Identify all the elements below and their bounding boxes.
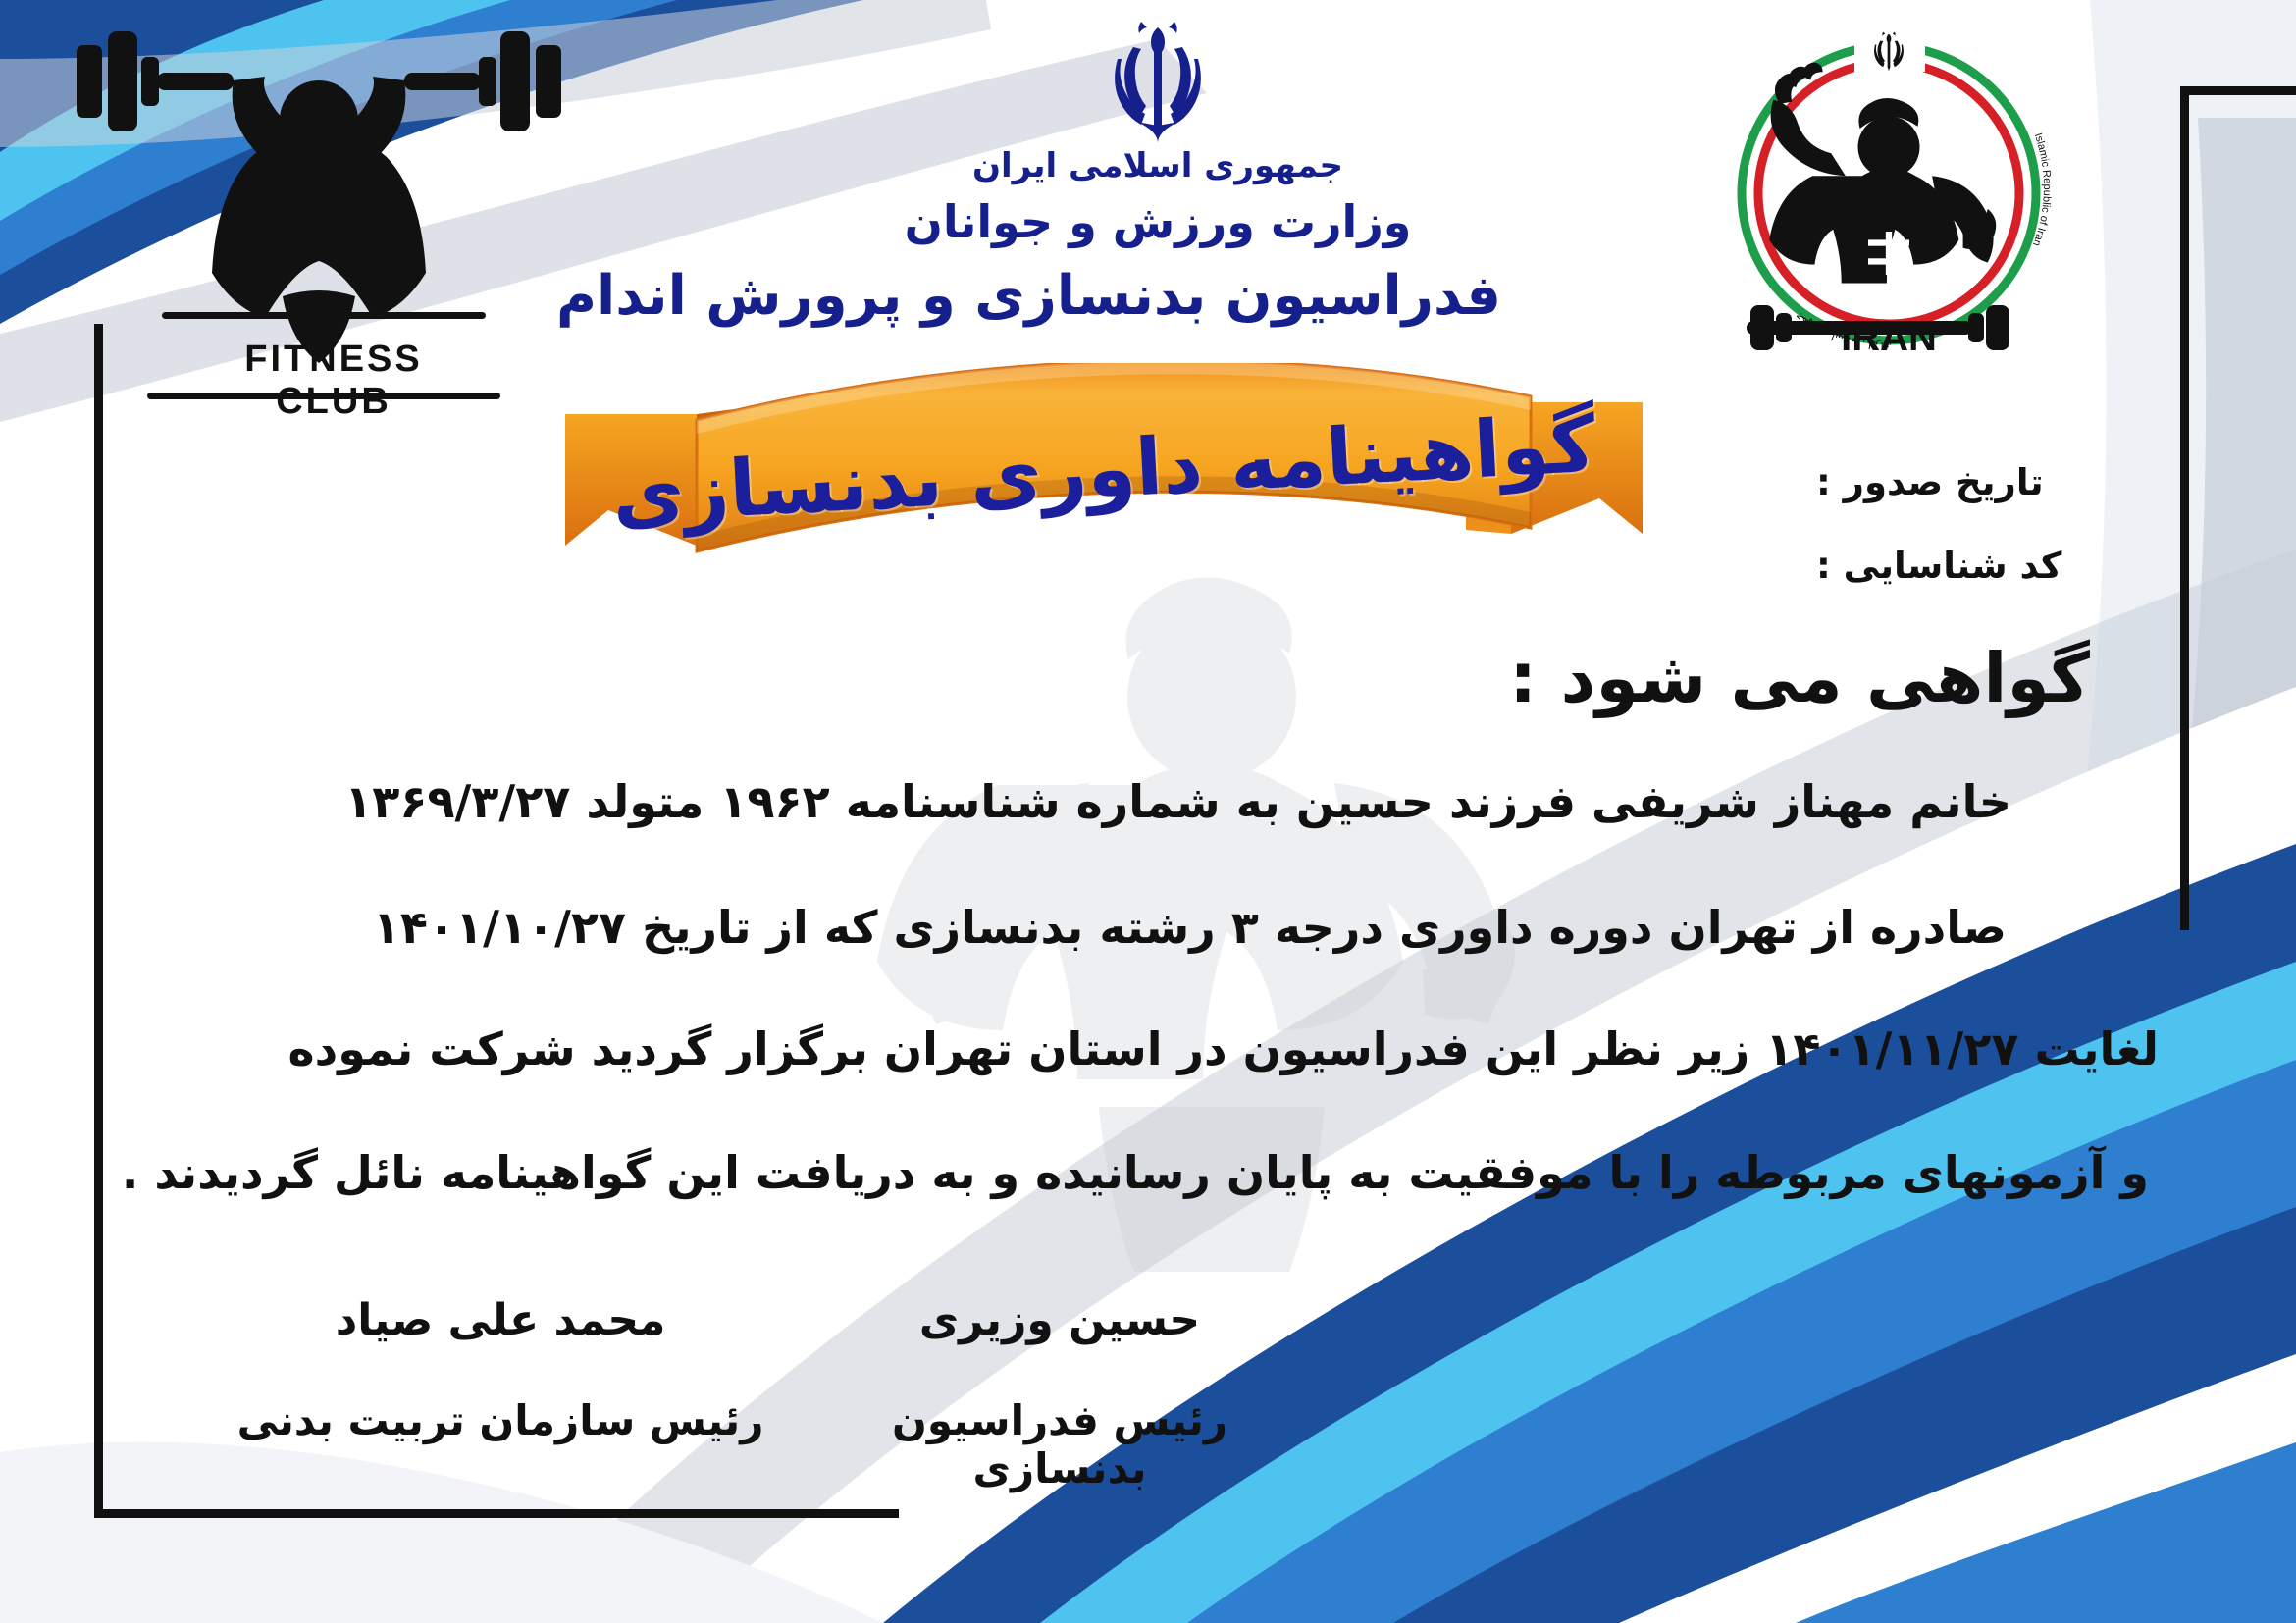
frame-right-top-line bbox=[2180, 86, 2296, 95]
signature-federation-president: حسین وزیری رئیس فدراسیون بدنسازی bbox=[805, 1295, 1315, 1492]
signature-pe-organization-head: محمد علی صیاد رئیس سازمان تربیت بدنی bbox=[235, 1295, 765, 1444]
fitness-logo-rule-top bbox=[162, 312, 486, 319]
fitness-club-caption: FITNESS CLUB bbox=[191, 339, 476, 423]
federation-name: فدراسیون بدنسازی و پرورش اندام bbox=[814, 264, 1501, 328]
issue-date-label: تاریخ صدور : bbox=[1791, 461, 2183, 503]
ministry-header: جمهوری اسلامی ایران وزارت ورزش و جوانان … bbox=[814, 20, 1501, 328]
id-code-label: کد شناسایی : bbox=[1791, 545, 2183, 587]
certificate-page: FITNESS CLUB جمهوری اسلامی ایران وزارت و… bbox=[0, 0, 2296, 1623]
body-line-3: لغایت ۱۴۰۱/۱۱/۲۷ زیر نظر این فدراسیون در… bbox=[288, 1022, 2159, 1075]
ministry-name: وزارت ورزش و جوانان bbox=[814, 195, 1501, 248]
iran-bodybuilding-federation-logo: Islamic Republic of Iran جمهوری اسلامی ا… bbox=[1707, 5, 2070, 397]
iran-emblem-icon bbox=[1104, 20, 1212, 142]
signature-name: محمد علی صیاد bbox=[235, 1295, 765, 1345]
body-heading: گواهی می شود : bbox=[1509, 638, 2090, 718]
iran-wordmark: IRAN bbox=[1841, 316, 1937, 359]
signature-role: رئیس سازمان تربیت بدنی bbox=[235, 1396, 765, 1444]
frame-bottom-line bbox=[94, 1509, 899, 1518]
signature-name: حسین وزیری bbox=[805, 1295, 1315, 1345]
ribbon-banner: گواهینامه داوری بدنسازی bbox=[549, 363, 1658, 638]
body-line-4: و آزمونهای مربوطه را با موفقیت به پایان … bbox=[122, 1146, 2149, 1199]
frame-left-line bbox=[94, 324, 103, 1516]
fitness-logo-rule-bottom bbox=[147, 393, 500, 399]
certificate-meta: تاریخ صدور : کد شناسایی : bbox=[1791, 461, 2183, 628]
body-line-2: صادره از تهران دوره داوری درجه ۳ رشته بد… bbox=[373, 901, 2007, 954]
body-line-1: خانم مهناز شریفی فرزند حسین به شماره شنا… bbox=[344, 775, 2011, 828]
signature-role: رئیس فدراسیون بدنسازی bbox=[805, 1396, 1315, 1492]
country-name: جمهوری اسلامی ایران bbox=[814, 146, 1501, 185]
